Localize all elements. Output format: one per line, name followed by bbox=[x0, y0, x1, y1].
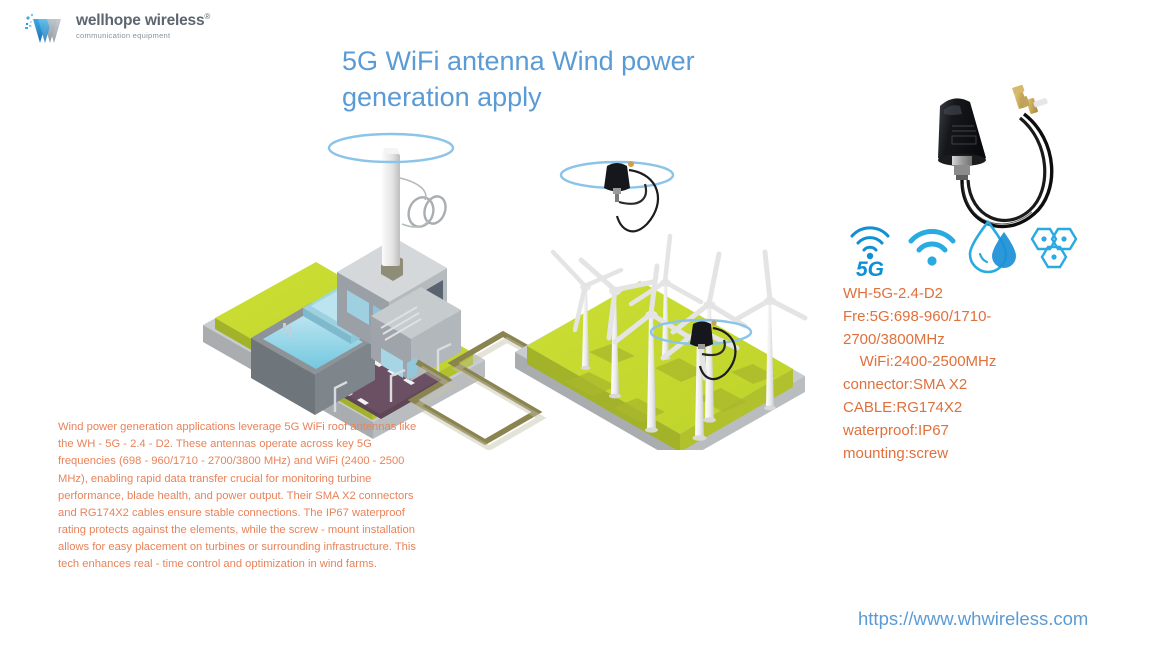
spec-line-waterproof: waterproof:IP67 bbox=[843, 420, 1128, 443]
spec-line-model: WH-5G-2.4-D2 bbox=[843, 283, 1128, 306]
feature-icon-row: 5G bbox=[846, 216, 1056, 282]
spec-line-frequency-1: Fre:5G:698-960/1710- bbox=[843, 306, 1128, 329]
spec-line-frequency-2: 2700/3800MHz bbox=[843, 329, 1128, 352]
description-text: Wind power generation applications lever… bbox=[58, 419, 423, 573]
waterproof-droplet-icon bbox=[966, 218, 1020, 279]
isometric-illustration bbox=[185, 120, 825, 450]
turbine-antenna bbox=[561, 161, 673, 231]
spec-line-wifi: WiFi:2400-2500MHz bbox=[843, 351, 1128, 374]
hexagon-material-icon bbox=[1024, 224, 1084, 277]
5g-label: 5G bbox=[856, 258, 884, 278]
brand-logo-text: wellhope wireless® communication equipme… bbox=[76, 13, 206, 40]
page-title: 5G WiFi antenna Wind power generation ap… bbox=[342, 44, 772, 115]
product-specs: WH-5G-2.4-D2 Fre:5G:698-960/1710- 2700/3… bbox=[843, 283, 1128, 465]
spec-line-cable: CABLE:RG174X2 bbox=[843, 397, 1128, 420]
rooftop-antenna bbox=[329, 134, 453, 281]
brand-name: wellhope wireless® bbox=[76, 13, 206, 29]
spec-line-connector: connector:SMA X2 bbox=[843, 374, 1128, 397]
registered-mark: ® bbox=[204, 12, 210, 21]
spec-line-mounting: mounting:screw bbox=[843, 443, 1128, 466]
5g-signal-icon: 5G bbox=[846, 216, 898, 283]
infographic-page: wellhope wireless® communication equipme… bbox=[0, 0, 1152, 648]
brand-tagline: communication equipment bbox=[76, 31, 206, 40]
website-url[interactable]: https://www.whwireless.com bbox=[858, 608, 1088, 630]
brand-logo[interactable]: wellhope wireless® communication equipme… bbox=[24, 10, 204, 50]
wifi-signal-icon bbox=[906, 224, 958, 275]
w-logo-icon bbox=[24, 12, 72, 46]
sma-connector bbox=[1026, 98, 1048, 115]
